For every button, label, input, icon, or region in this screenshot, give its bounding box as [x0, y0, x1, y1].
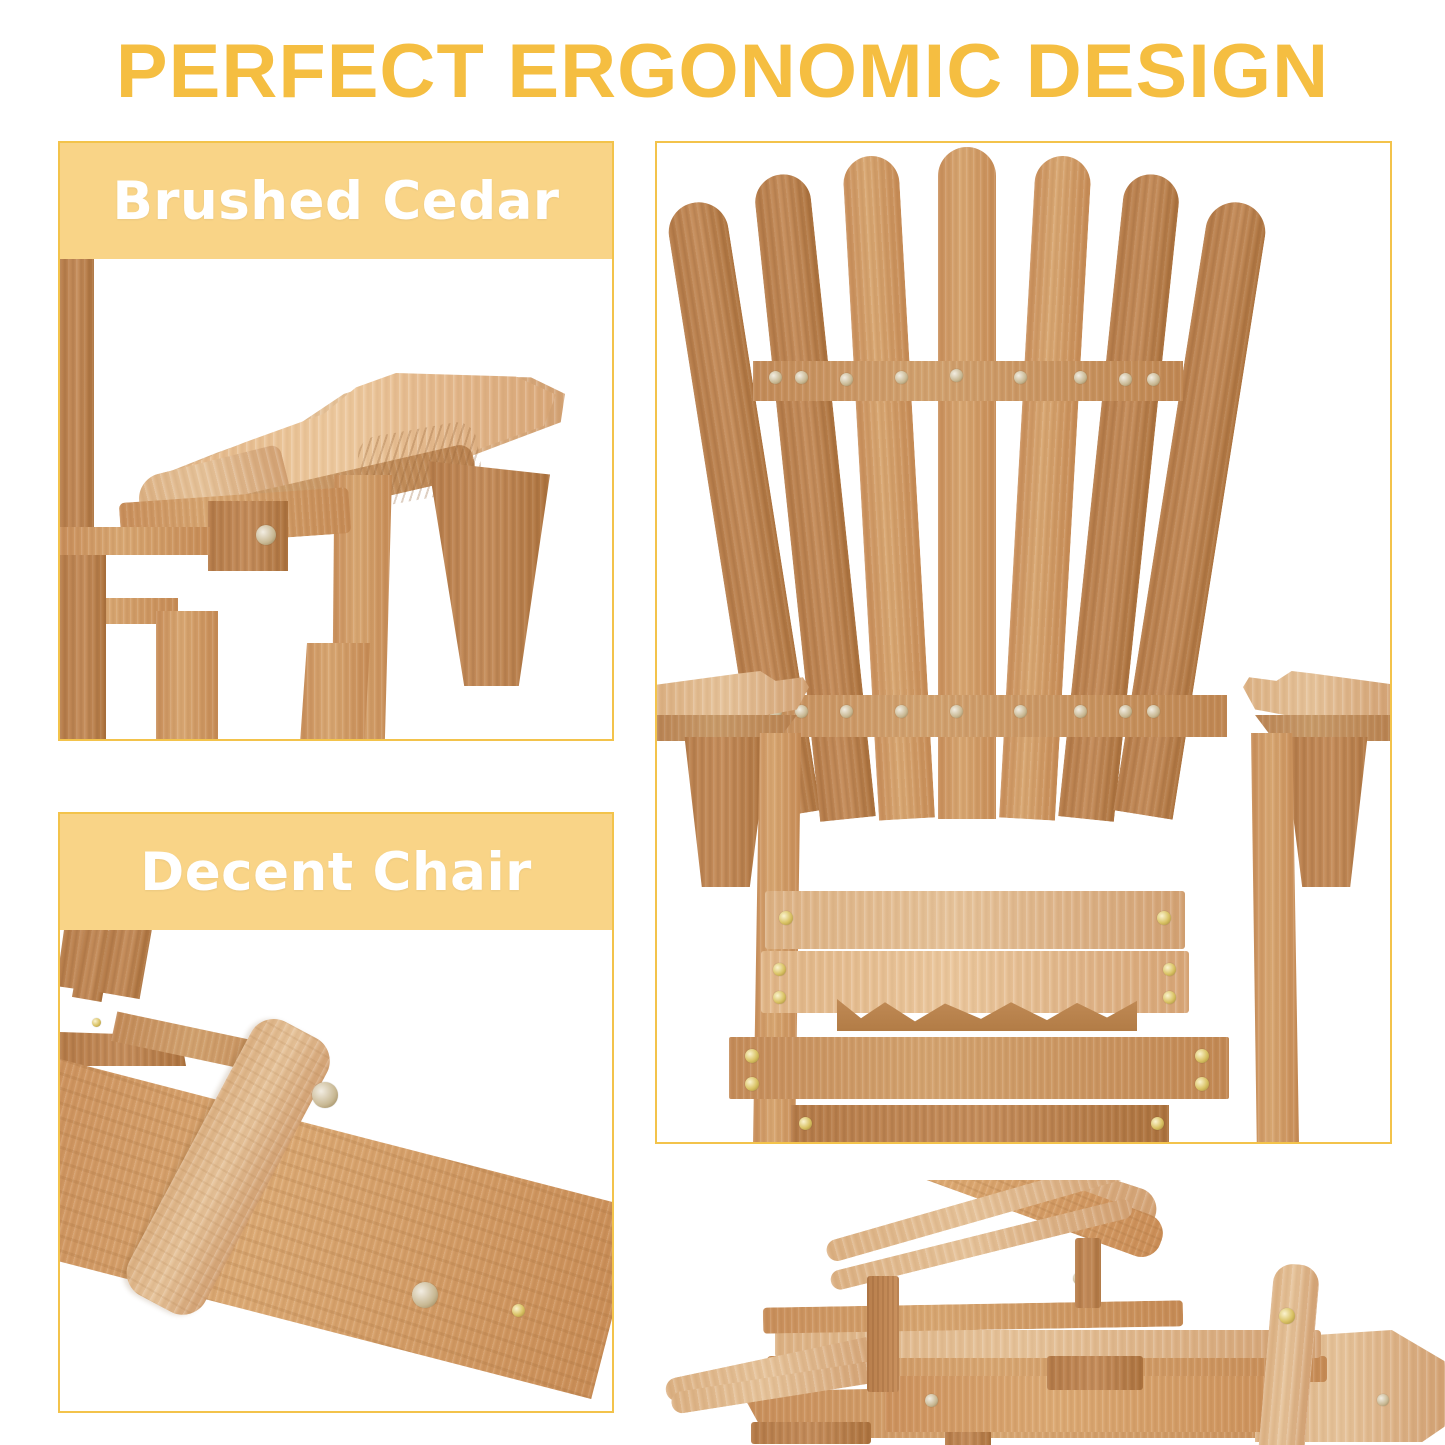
panel-decent-chair: Decent Chair [58, 812, 614, 1413]
brushed-cedar-label: Brushed Cedar [112, 171, 559, 232]
screw-icon [1195, 1077, 1209, 1091]
screw-icon [795, 371, 808, 384]
decent-chair-band: Decent Chair [60, 814, 612, 930]
screw-icon [1279, 1308, 1295, 1324]
screw-icon [1147, 705, 1160, 718]
screw-icon [840, 373, 853, 386]
screw-icon [1014, 705, 1027, 718]
screw-icon [92, 1018, 101, 1027]
screw-icon [745, 1077, 759, 1091]
screw-icon [412, 1282, 438, 1308]
screw-icon [769, 371, 782, 384]
screw-icon [1119, 373, 1132, 386]
folded-chair-photo [655, 1180, 1445, 1445]
screw-icon [950, 705, 963, 718]
screw-icon [950, 369, 963, 382]
screw-icon [895, 705, 908, 718]
screw-icon [745, 1049, 759, 1063]
screw-icon [773, 963, 786, 976]
brushed-cedar-band: Brushed Cedar [60, 143, 612, 259]
screw-icon [1074, 705, 1087, 718]
screw-icon [312, 1082, 338, 1108]
decent-chair-label: Decent Chair [140, 842, 532, 903]
panel-full-chair [655, 141, 1392, 1144]
screw-icon [799, 1117, 812, 1130]
screw-icon [779, 911, 793, 925]
screw-icon [1157, 911, 1171, 925]
screw-icon [256, 525, 276, 545]
screw-icon [1074, 371, 1087, 384]
screw-icon [1163, 963, 1176, 976]
screw-icon [1377, 1394, 1389, 1406]
screw-icon [1195, 1049, 1209, 1063]
screw-icon [773, 991, 786, 1004]
screw-icon [925, 1394, 938, 1407]
screw-icon [1163, 991, 1176, 1004]
full-chair-photo [657, 143, 1390, 1142]
screw-icon [895, 371, 908, 384]
screw-icon [840, 705, 853, 718]
screw-icon [1151, 1117, 1164, 1130]
page-title: PERFECT ERGONOMIC DESIGN [0, 34, 1445, 110]
panel-brushed-cedar: Brushed Cedar [58, 141, 614, 741]
screw-icon [1014, 371, 1027, 384]
screw-icon [1119, 705, 1132, 718]
screw-icon [512, 1304, 525, 1317]
screw-icon [1147, 373, 1160, 386]
